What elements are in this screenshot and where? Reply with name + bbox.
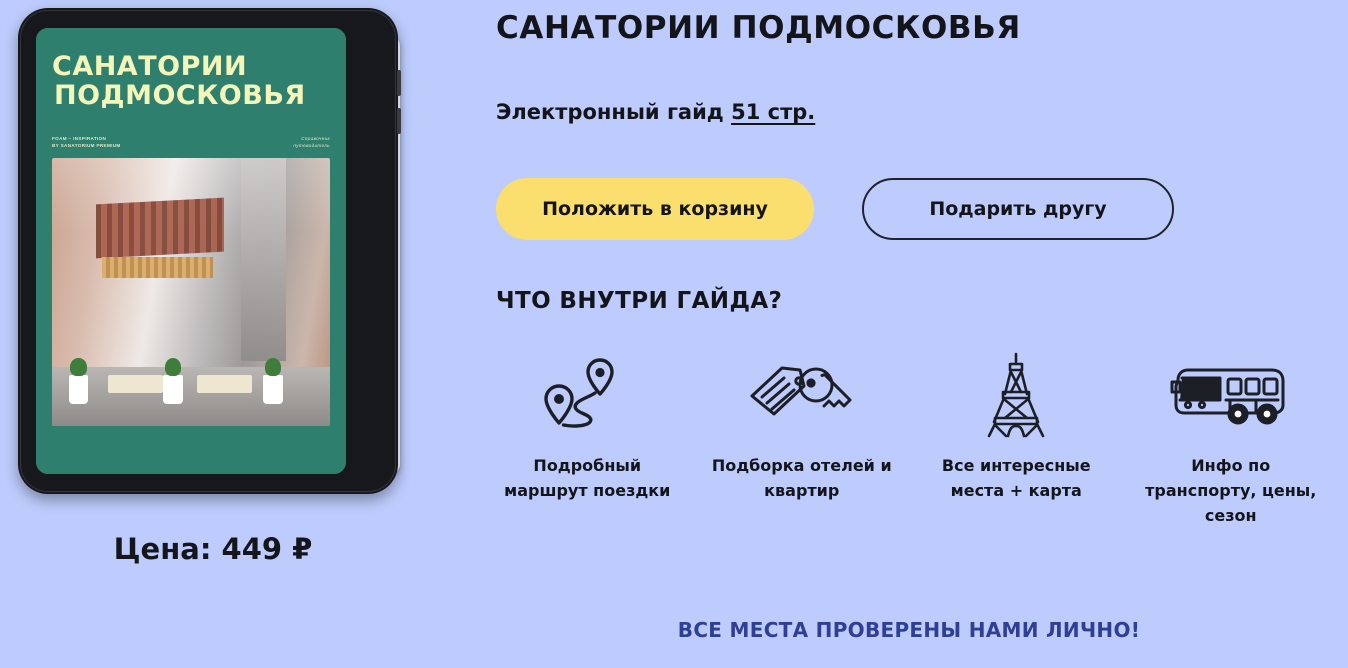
cover-photo-lobby-interior [52, 158, 330, 426]
cover-meta: FOAM – INSPIRATION by Sanatorium Premium… [52, 136, 330, 149]
cover-meta-left: FOAM – INSPIRATION by Sanatorium Premium [52, 136, 121, 149]
feature-item-hotels: Подборка отелей и квартир [695, 352, 910, 504]
action-buttons: Положить в корзину Подарить другу [496, 178, 1174, 240]
cover-meta-right: Справочник путеводитель [293, 136, 330, 149]
tablet-screen[interactable]: САНАТОРИИ ПОДМОСКОВЬЯ FOAM – INSPIRATION… [36, 28, 346, 474]
cover-meta-right-line1: Справочник [293, 136, 330, 143]
inside-guide-heading: ЧТО ВНУТРИ ГАЙДА? [496, 288, 782, 314]
route-pins-icon [532, 352, 642, 438]
volume-up-button[interactable] [397, 70, 401, 96]
feature-label: Подробный маршрут поездки [497, 454, 677, 504]
feature-item-transport: Инфо по транспорту, цены, сезон [1124, 352, 1339, 528]
guide-page-count: 51 стр. [731, 100, 815, 124]
product-info-column: САНАТОРИИ ПОДМОСКОВЬЯ Электронный гайд 5… [470, 0, 1348, 668]
add-to-cart-button[interactable]: Положить в корзину [496, 178, 814, 240]
bus-icon [1168, 352, 1294, 438]
feature-item-places: Все интересные места + карта [909, 352, 1124, 504]
tablet-device-frame: САНАТОРИИ ПОДМОСКОВЬЯ FOAM – INSPIRATION… [18, 8, 398, 494]
guide-format-line: Электронный гайд 51 стр. [496, 100, 815, 124]
cover-meta-left-line2: by Sanatorium Premium [52, 143, 121, 150]
cover-title: САНАТОРИИ ПОДМОСКОВЬЯ [52, 52, 330, 110]
gift-to-friend-button[interactable]: Подарить другу [862, 178, 1174, 240]
guide-cover: САНАТОРИИ ПОДМОСКОВЬЯ FOAM – INSPIRATION… [36, 28, 346, 474]
price-label: Цена: 449 ₽ [0, 532, 426, 566]
product-media-column: САНАТОРИИ ПОДМОСКОВЬЯ FOAM – INSPIRATION… [0, 0, 470, 668]
feature-item-route: Подробный маршрут поездки [480, 352, 695, 504]
cover-title-line1: САНАТОРИИ [52, 51, 247, 82]
key-tag-icon [738, 352, 866, 438]
product-page: САНАТОРИИ ПОДМОСКОВЬЯ FOAM – INSPIRATION… [0, 0, 1348, 668]
feature-label: Все интересные места + карта [926, 454, 1106, 504]
cover-meta-left-line1: FOAM – INSPIRATION [52, 136, 121, 143]
tablet-mockup: САНАТОРИИ ПОДМОСКОВЬЯ FOAM – INSPIRATION… [18, 8, 408, 496]
feature-label: Инфо по транспорту, цены, сезон [1141, 454, 1321, 528]
feature-list: Подробный маршрут поездки Подборка отеле… [480, 352, 1338, 528]
feature-label: Подборка отелей и квартир [712, 454, 892, 504]
verified-footnote: ВСЕ МЕСТА ПРОВЕРЕНЫ НАМИ ЛИЧНО! [470, 618, 1348, 642]
volume-down-button[interactable] [397, 108, 401, 134]
guide-format-prefix: Электронный гайд [496, 100, 731, 124]
cover-meta-right-line2: путеводитель [293, 143, 330, 150]
cover-title-line2: ПОДМОСКОВЬЯ [54, 81, 330, 110]
page-title: САНАТОРИИ ПОДМОСКОВЬЯ [496, 10, 1021, 46]
eiffel-tower-icon [975, 352, 1057, 438]
